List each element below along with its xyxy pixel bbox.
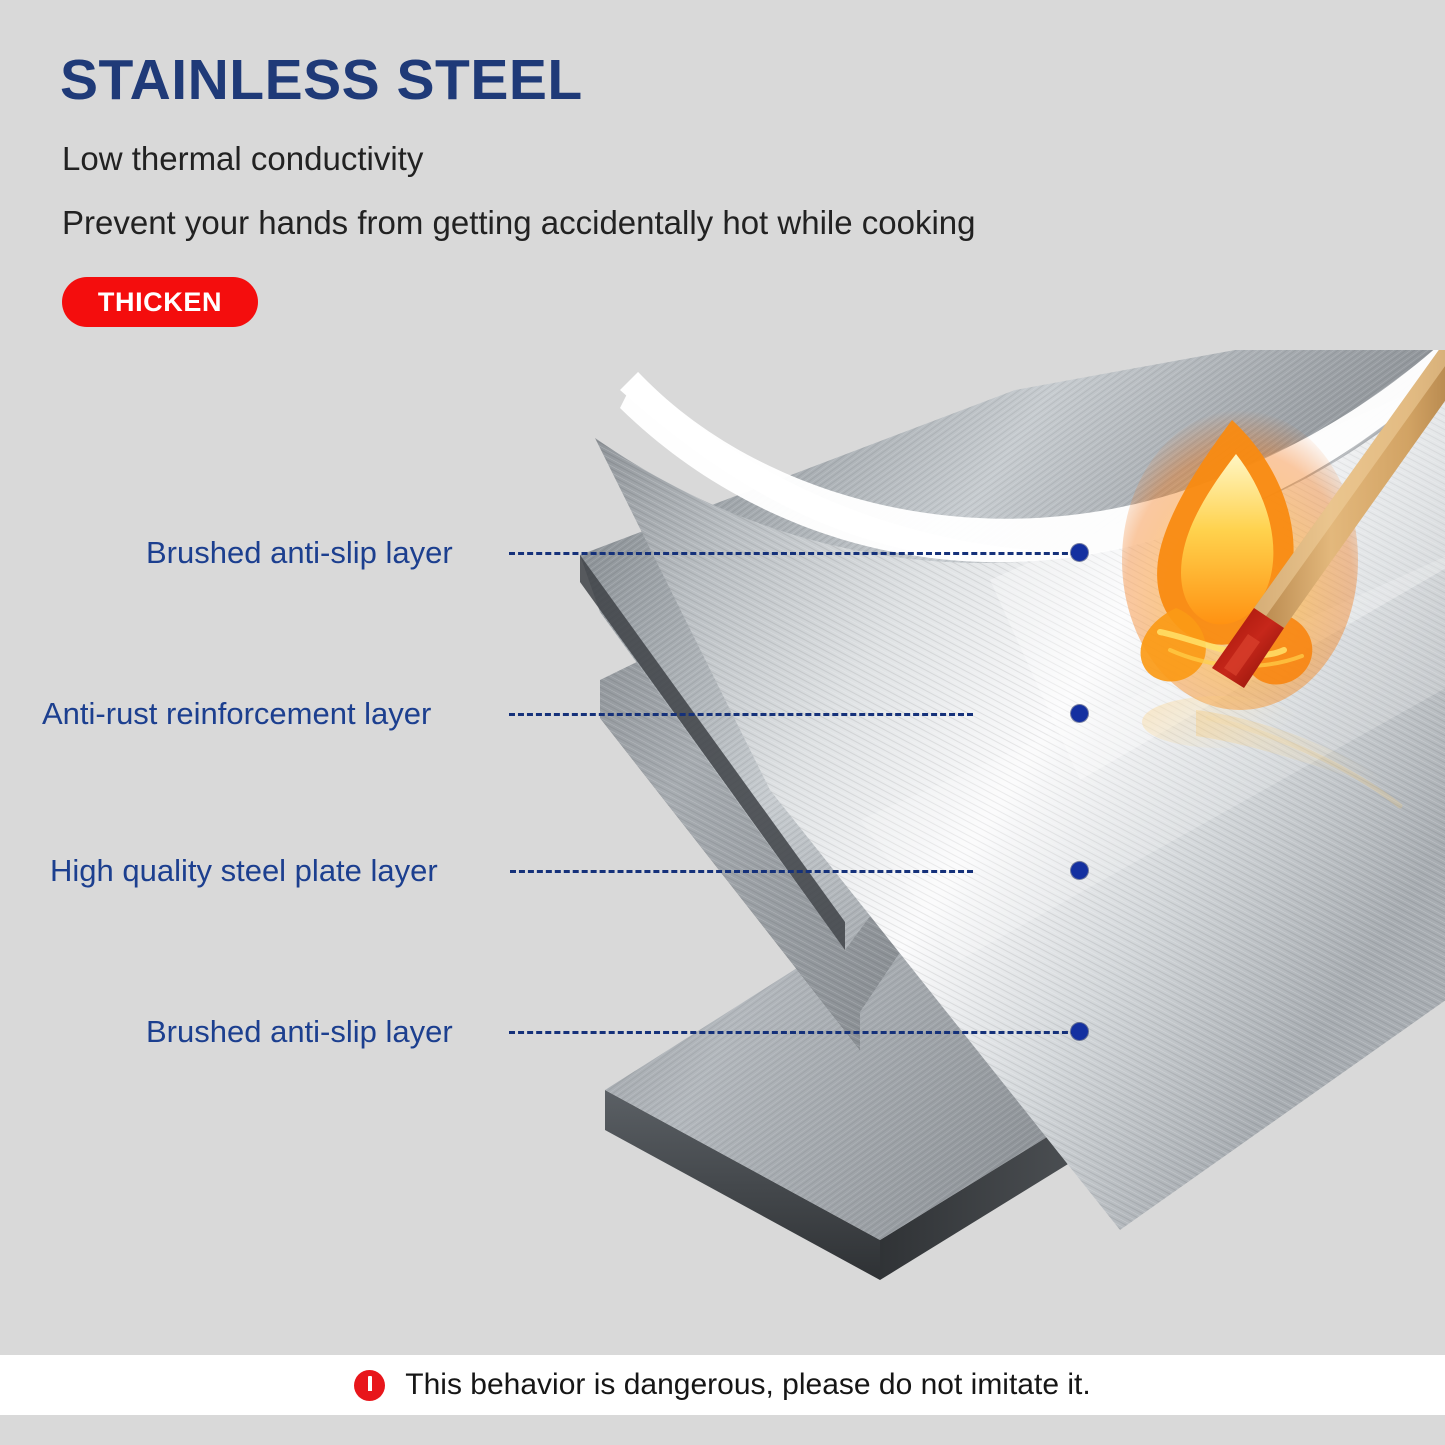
callout-endpoint-dot (1071, 544, 1088, 561)
thicken-badge: THICKEN (62, 277, 258, 327)
callout-label: Brushed anti-slip layer (146, 533, 453, 573)
callout-leader-line (510, 870, 973, 873)
exclamation-circle-icon (354, 1370, 385, 1401)
callout-anti-rust-reinforcement: Anti-rust reinforcement layer (42, 694, 956, 734)
thicken-badge-label: THICKEN (98, 287, 222, 318)
callout-endpoint-dot (1071, 1023, 1088, 1040)
callout-brushed-anti-slip-top: Brushed anti-slip layer (146, 533, 956, 573)
subtitle-secondary: Prevent your hands from getting accident… (62, 204, 976, 242)
callout-high-quality-steel-plate: High quality steel plate layer (50, 851, 956, 891)
callout-brushed-anti-slip-bottom: Brushed anti-slip layer (146, 1012, 956, 1052)
callout-leader-line (509, 713, 973, 716)
subtitle-primary: Low thermal conductivity (62, 140, 423, 178)
callout-label: Brushed anti-slip layer (146, 1012, 453, 1052)
warning-footer: This behavior is dangerous, please do no… (0, 1355, 1445, 1415)
infographic-canvas: STAINLESS STEEL Low thermal conductivity… (0, 0, 1445, 1445)
callout-endpoint-dot (1071, 705, 1088, 722)
callout-label: Anti-rust reinforcement layer (42, 694, 431, 734)
warning-text: This behavior is dangerous, please do no… (405, 1368, 1090, 1402)
callout-leader-line (509, 1031, 1077, 1034)
steel-layers-illustration (560, 350, 1445, 1330)
callout-label: High quality steel plate layer (50, 851, 438, 891)
page-title: STAINLESS STEEL (60, 52, 583, 109)
callout-leader-line (509, 552, 1077, 555)
callout-endpoint-dot (1071, 862, 1088, 879)
